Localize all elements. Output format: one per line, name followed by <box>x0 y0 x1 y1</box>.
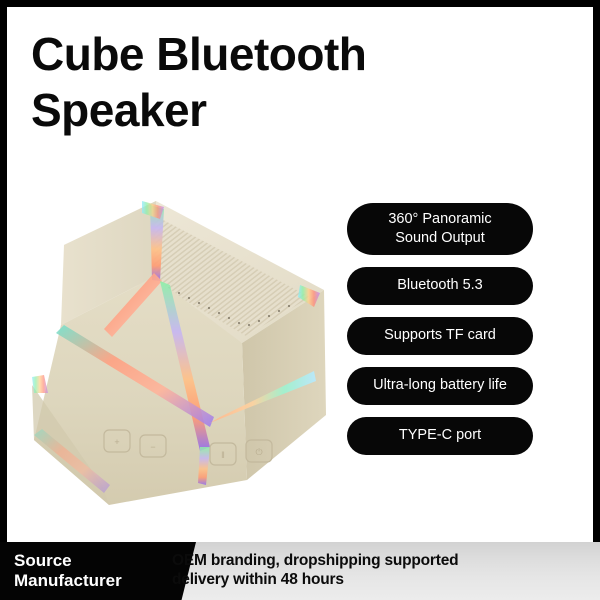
rgb-strip-left-edge <box>32 375 48 393</box>
product-image: + − ‖ ⏻ <box>14 185 344 530</box>
volume-down-icon: − <box>150 442 155 452</box>
power-icon: ⏻ <box>255 447 262 457</box>
feature-pill-list: 360° Panoramic Sound Output Bluetooth 5.… <box>347 203 533 455</box>
frame-border-top <box>0 0 600 7</box>
product-ad-page: Cube Bluetooth Speaker <box>0 0 600 600</box>
feature-pill-type-c-port[interactable]: TYPE-C port <box>347 417 533 455</box>
feature-pill-battery-life[interactable]: Ultra-long battery life <box>347 367 533 405</box>
frame-border-left <box>0 0 7 545</box>
page-title: Cube Bluetooth Speaker <box>31 26 531 138</box>
volume-up-icon: + <box>114 437 119 447</box>
feature-pill-bluetooth-version[interactable]: Bluetooth 5.3 <box>347 267 533 305</box>
banner-message: OEM branding, dropshipping supported del… <box>172 551 458 589</box>
brand-label: Source Manufacturer <box>14 551 122 591</box>
feature-pill-tf-card[interactable]: Supports TF card <box>347 317 533 355</box>
play-pause-icon: ‖ <box>221 450 225 460</box>
frame-border-right <box>593 0 600 545</box>
cube-speaker-illustration: + − ‖ ⏻ <box>14 185 344 530</box>
bottom-banner: Source Manufacturer OEM branding, dropsh… <box>0 542 600 600</box>
feature-pill-panoramic-sound[interactable]: 360° Panoramic Sound Output <box>347 203 533 255</box>
